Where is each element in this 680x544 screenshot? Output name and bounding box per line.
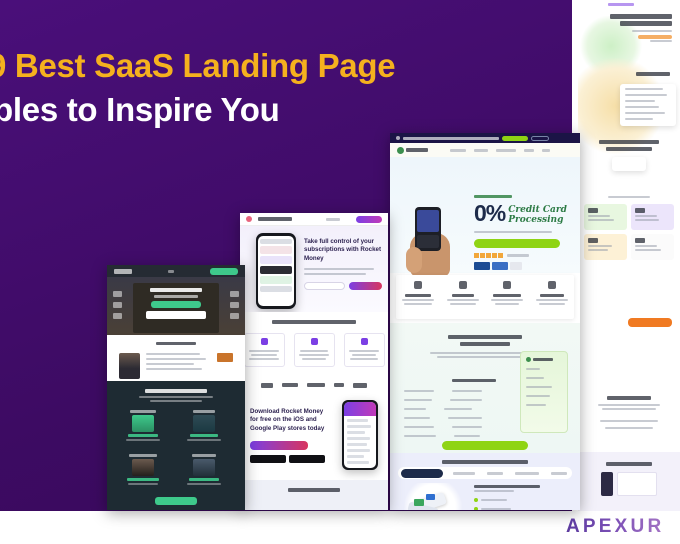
page-title: 9 Best SaaS Landing Page mples to Inspir… [0,44,488,131]
pastel-students-section [578,396,680,429]
rocket-press-logos [240,376,388,394]
pay-feature-item [530,275,575,319]
pay-comparison-highlight [520,351,568,433]
dark-footer-cta[interactable] [155,497,197,505]
rocket-benefit-card [244,333,285,367]
dark-navbar[interactable] [107,265,245,277]
rocket-download-phone [342,400,378,470]
dark-feature-grid [107,381,245,491]
pay-hero-terminal-image [402,203,464,279]
rocket-download-section: Download Rocket Money for free on the iO… [240,394,388,480]
pastel-cta-button[interactable] [578,318,680,327]
pay-feature-item [441,275,486,319]
pay-announcement-secondary[interactable] [531,136,549,141]
pay-comparison-section [390,323,580,453]
rocket-hero-phone [256,233,296,309]
panel-dark-saas[interactable] [107,265,245,510]
dark-nav-cta[interactable] [210,268,238,275]
panel-payment-processing[interactable]: 0% Credit CardProcessing [390,133,580,510]
pay-tab-active[interactable] [401,469,443,478]
apexure-logo[interactable]: APEXUR [566,509,680,544]
dark-feature-cell [117,454,169,494]
pastel-benefit-grid [578,196,680,260]
rocket-footer [240,480,388,510]
dark-testimonial-section [107,335,245,381]
pastel-join-section [578,140,680,171]
dark-feature-cell [117,410,169,450]
rocket-benefit-card [344,333,385,367]
rocket-navbar[interactable] [240,213,388,226]
rocket-hero-headline: Take full control of your subscriptions … [304,238,382,263]
pastel-why-heading [578,72,680,76]
rocket-benefit-card [294,333,335,367]
rocket-benefits-section [240,312,388,376]
dark-hero-cta[interactable] [151,301,201,308]
dark-feature-cell [178,410,230,450]
pay-comparison-cta[interactable] [442,441,528,450]
pastel-hero [578,14,680,42]
page-title-line-1: 9 Best SaaS Landing Page [0,44,488,88]
rocket-download-cta[interactable] [250,441,308,450]
pay-navbar[interactable] [390,143,580,157]
pay-hero-zero-percent: 0% [474,202,505,225]
rocket-email-input[interactable] [304,282,345,290]
rocket-download-headline: Download Rocket Money for free on the iO… [250,408,328,433]
pay-feature-item [396,275,441,319]
pay-device-image [400,483,466,510]
testimonial-avatar [119,353,140,379]
pay-announcement-cta[interactable] [502,136,528,141]
pay-hero-cta-button[interactable] [474,239,560,248]
pastel-list-card [620,84,676,126]
page-title-line-2: mples to Inspire You [0,88,488,132]
pay-hero: 0% Credit CardProcessing [390,157,580,273]
rocket-nav-cta[interactable] [356,216,382,223]
pay-announcement-bar[interactable] [390,133,580,143]
screenshot-canvas: 9 Best SaaS Landing Page mples to Inspir… [0,0,680,544]
rocket-hero: Take full control of your subscriptions … [240,226,388,312]
pay-feature-item [485,275,530,319]
pay-solution-tabs[interactable] [398,467,572,479]
pay-feature-row [396,275,574,319]
pay-device-copy [474,485,570,510]
rocket-googleplay-badge[interactable] [289,455,325,463]
rocket-hero-cta[interactable] [349,282,382,290]
pastel-footer [578,452,680,511]
panel-rocket-money[interactable]: Take full control of your subscriptions … [240,213,388,510]
pay-hero-script: Credit CardProcessing [508,205,567,226]
dark-feature-cell [178,454,230,494]
dark-hero [107,277,245,335]
panel-pastel-education[interactable] [578,0,680,511]
dark-footer-cta-section [107,491,245,510]
dark-hero-card [133,283,219,333]
rocket-appstore-badge[interactable] [250,455,286,463]
pastel-topbar [578,0,680,10]
dark-hero-input[interactable] [146,311,206,319]
